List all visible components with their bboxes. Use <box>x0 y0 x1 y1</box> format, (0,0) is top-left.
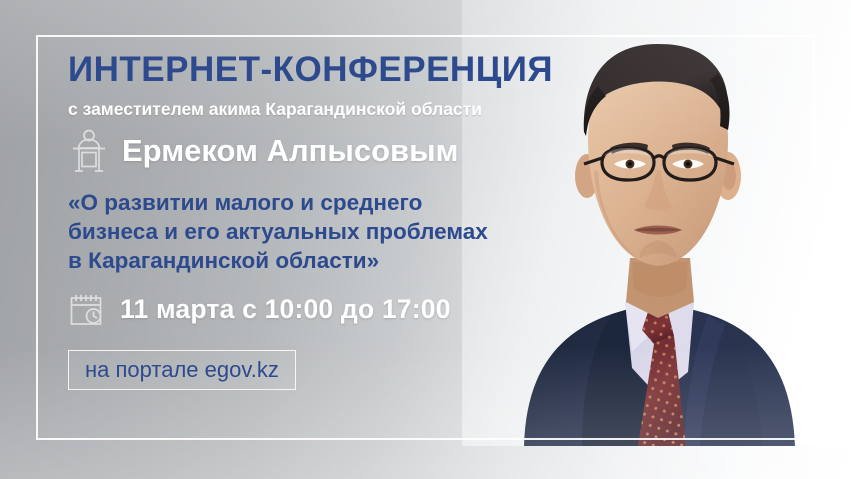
calendar-clock-icon <box>68 292 104 328</box>
topic-line-1: «О развитии малого и среднего <box>68 188 588 217</box>
topic-line-3: в Карагандинской области» <box>68 246 588 275</box>
banner-content: ИНТЕРНЕТ-КОНФЕРЕНЦИЯ с заместителем аким… <box>68 52 588 390</box>
page-title: ИНТЕРНЕТ-КОНФЕРЕНЦИЯ <box>68 52 588 89</box>
internet-conference-banner: ИНТЕРНЕТ-КОНФЕРЕНЦИЯ с заместителем аким… <box>0 0 851 479</box>
speaker-name: Ермеком Алпысовым <box>122 135 458 166</box>
subtitle: с заместителем акима Карагандинской обла… <box>68 99 588 120</box>
podium-speaker-icon <box>68 128 110 174</box>
conference-topic: «О развитии малого и среднего бизнеса и … <box>68 188 588 276</box>
portal-link-button[interactable]: на портале egov.kz <box>68 350 296 390</box>
event-datetime: 11 марта с 10:00 до 17:00 <box>120 294 451 325</box>
speaker-row: Ермеком Алпысовым <box>68 128 588 174</box>
date-row: 11 марта с 10:00 до 17:00 <box>68 292 588 328</box>
topic-line-2: бизнеса и его актуальных проблемах <box>68 217 588 246</box>
